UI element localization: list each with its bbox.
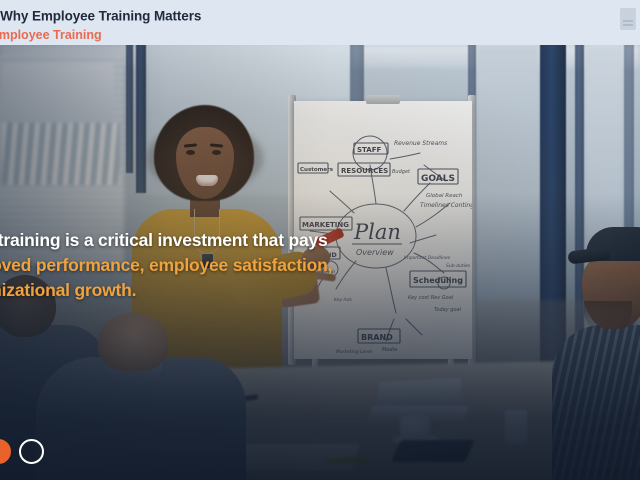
wall-panel: [2, 63, 114, 123]
panel-toggle-line: [623, 20, 633, 22]
coffee-cup: [400, 416, 430, 440]
svg-text:Timelines Contingency: Timelines Contingency: [420, 202, 472, 209]
svg-text:Budget: Budget: [392, 169, 411, 175]
page-header: Briefs® Why Employee Training Matters fi…: [0, 0, 640, 45]
svg-text:GOALS: GOALS: [421, 174, 455, 184]
attendee-right-torso: [552, 325, 640, 480]
slide-pagination: [0, 439, 44, 464]
svg-text:Media: Media: [382, 347, 397, 353]
pagination-dot-1[interactable]: [0, 439, 11, 464]
tablet-device: [391, 440, 475, 462]
svg-text:BRAND: BRAND: [361, 333, 393, 342]
page-title: Briefs® Why Employee Training Matters: [0, 4, 201, 25]
slide-caption: oyee training is a critical investment t…: [0, 228, 594, 303]
panel-toggle-button[interactable]: [620, 8, 636, 30]
attendee-center: [36, 313, 226, 480]
caption-line-1: oyee training is a critical investment t…: [0, 228, 594, 253]
svg-text:Today goal: Today goal: [434, 307, 462, 313]
slide-image: STAFF RESOURCES Customers GOALS MARKETIN…: [0, 45, 640, 480]
svg-text:RESOURCES: RESOURCES: [341, 167, 388, 175]
page-title-rest: Why Employee Training Matters: [0, 9, 201, 24]
svg-text:Customers: Customers: [300, 167, 334, 173]
header-text-group: Briefs® Why Employee Training Matters fi…: [0, 4, 201, 43]
slide-viewer: Briefs® Why Employee Training Matters fi…: [0, 0, 640, 480]
svg-text:Global Reach: Global Reach: [426, 193, 463, 199]
presenter-eye: [212, 150, 221, 155]
caption-line-3: organizational growth.: [0, 278, 594, 303]
caption-line-2: improved performance, employee satisfact…: [0, 253, 594, 278]
page-subtitle: fits of Employee Training: [0, 27, 201, 43]
water-glass: [505, 410, 527, 444]
svg-text:Revenue Streams: Revenue Streams: [394, 140, 447, 147]
pagination-dot-2[interactable]: [19, 439, 44, 464]
presenter-mouth: [196, 175, 218, 186]
blind-slats: [2, 123, 120, 185]
panel-toggle-line: [623, 24, 633, 26]
svg-text:Marketing Level: Marketing Level: [336, 349, 373, 355]
attendee-center-head: [98, 313, 168, 371]
presenter-eye: [186, 150, 195, 155]
svg-text:STAFF: STAFF: [357, 146, 381, 154]
